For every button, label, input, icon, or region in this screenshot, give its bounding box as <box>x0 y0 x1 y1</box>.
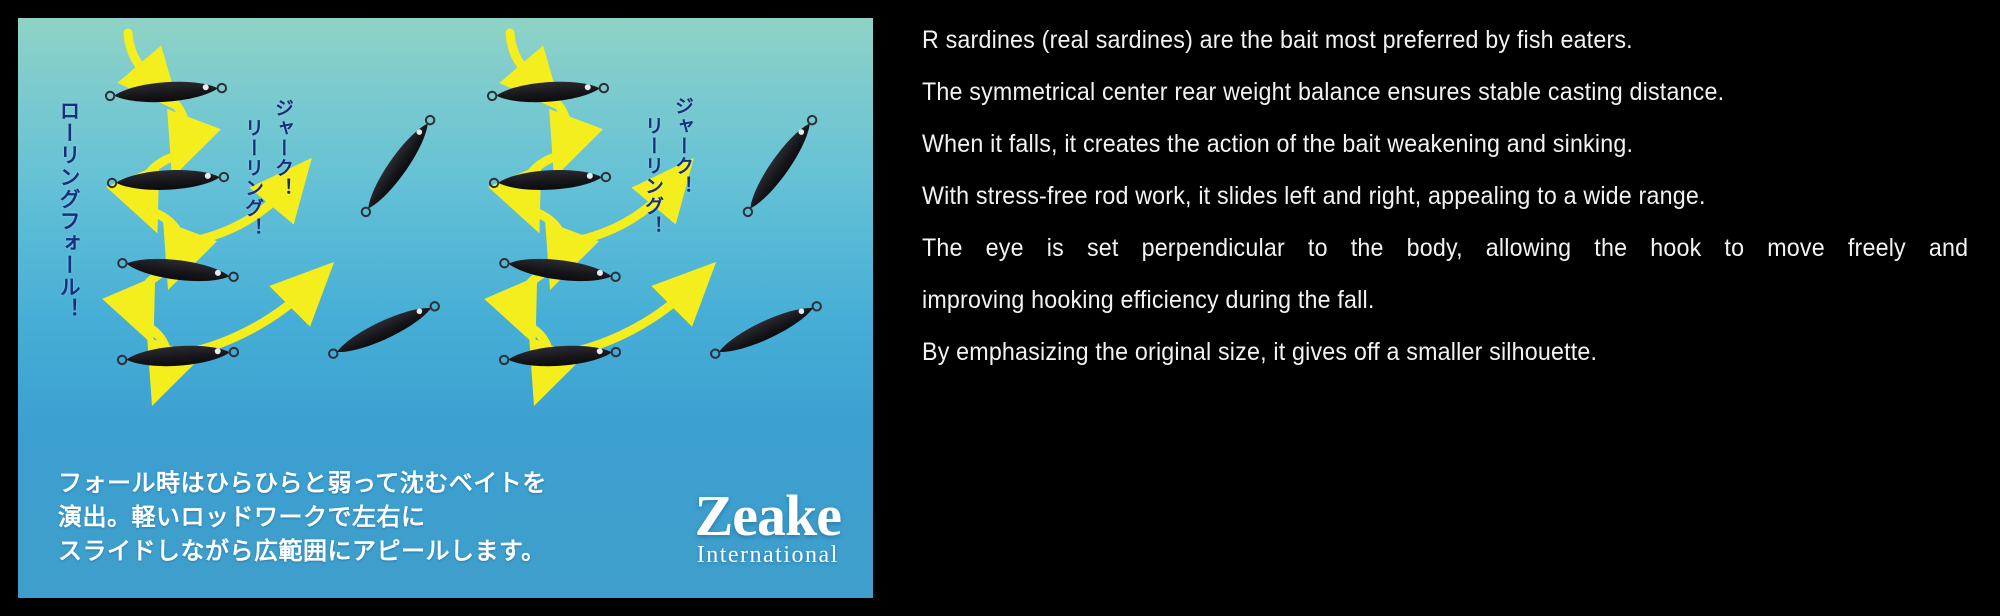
description-line: With stress-free rod work, it slides lef… <box>922 170 1908 222</box>
japanese-caption-line: 演出。軽いロッドワークで左右に <box>58 500 658 534</box>
description-line: By emphasizing the original size, it giv… <box>922 326 1908 378</box>
description-line: The symmetrical center rear weight balan… <box>922 66 1908 118</box>
brand-name: Zeake <box>695 488 841 544</box>
japanese-caption-line: スライドしながら広範囲にアピールします。 <box>58 534 658 568</box>
jig-lure <box>356 112 440 221</box>
jig-lure <box>105 78 226 106</box>
jig-lure <box>489 167 610 193</box>
description-line: The eye is set perpendicular to the body… <box>922 222 1968 274</box>
label-rolling-fall: ローリングフォール！ <box>58 100 79 320</box>
label-reeling-right: リーリング！ <box>643 116 662 236</box>
description-panel: R sardines (real sardines) are the bait … <box>922 0 1982 616</box>
description-line: improving hooking efficiency during the … <box>922 274 1908 326</box>
label-jerk-right: ジャーク！ <box>673 96 692 196</box>
brand-logo: Zeake International <box>695 488 841 568</box>
page-root: ローリングフォール！ ジャーク！ リーリング！ ジャーク！ リーリング！ フォー… <box>0 0 2000 616</box>
japanese-caption: フォール時はひらひらと弱って沈むベイトを 演出。軽いロッドワークで左右に スライ… <box>58 466 658 568</box>
jig-lure <box>708 296 825 363</box>
jig-group <box>105 78 824 370</box>
jig-lure <box>487 78 608 106</box>
description-line: R sardines (real sardines) are the bait … <box>922 14 1908 66</box>
label-jerk-left: ジャーク！ <box>273 98 292 198</box>
jig-lure <box>107 167 228 193</box>
jig-lure <box>326 296 443 363</box>
description-line: When it falls, it creates the action of … <box>922 118 1908 170</box>
label-reeling-left: リーリング！ <box>243 118 262 238</box>
japanese-caption-line: フォール時はひらひらと弱って沈むベイトを <box>58 466 658 500</box>
brand-subtitle: International <box>695 542 841 568</box>
jig-lure <box>738 112 822 221</box>
illustration-panel: ローリングフォール！ ジャーク！ リーリング！ ジャーク！ リーリング！ フォー… <box>18 18 873 598</box>
